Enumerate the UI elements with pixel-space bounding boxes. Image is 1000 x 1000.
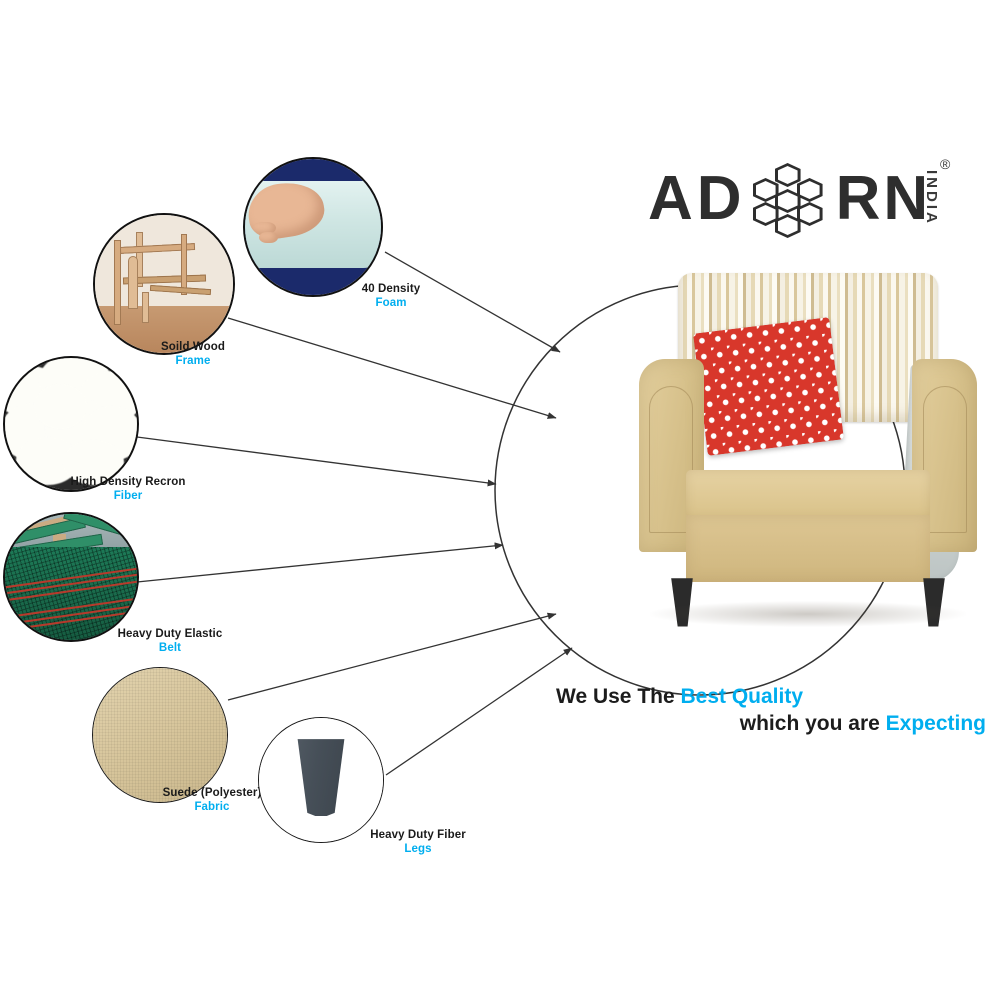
tagline-block: We Use The Best Quality which you are Ex…	[556, 684, 986, 738]
feature-belt: Heavy Duty Elastic Belt	[3, 512, 139, 642]
tagline-line-1: We Use The Best Quality	[556, 684, 986, 711]
foam-hand-press-photo	[243, 157, 383, 297]
seat-cushion	[686, 470, 931, 518]
feature-belt-title: Heavy Duty Elastic	[45, 628, 295, 642]
feature-foam: 40 Density Foam	[243, 157, 383, 297]
tagline-line-1-highlight: Best Quality	[680, 685, 803, 708]
tagline-line-2-highlight: Expecting	[886, 712, 986, 735]
feature-fiber-title: High Density Recron	[0, 476, 263, 490]
wood-frame-photo	[93, 213, 235, 355]
red-accent-pillow	[693, 317, 844, 456]
elastic-webbing-photo	[3, 512, 139, 642]
product-shadow	[650, 601, 967, 627]
feature-fiber-subtitle: Fiber	[0, 490, 263, 504]
feature-foam-caption: 40 Density Foam	[291, 283, 491, 310]
suede-fabric-swatch	[92, 667, 228, 803]
feature-fiber: High Density Recron Fiber	[3, 356, 139, 492]
feature-fabric: Suede (Polyester) Fabric	[92, 667, 228, 803]
feature-legs: Heavy Duty Fiber Legs	[258, 717, 384, 843]
infographic-canvas: Soild Wood Frame 40 Density Foam	[0, 0, 1000, 1000]
tagline-line-1-plain: We Use The	[556, 685, 680, 708]
product-photo-armchair	[628, 262, 988, 634]
connector-belt	[137, 545, 503, 582]
feature-frame: Soild Wood Frame	[93, 213, 235, 355]
logo-letter-a: A	[648, 168, 693, 230]
logo-letter-r: R	[836, 168, 881, 230]
feature-legs-caption: Heavy Duty Fiber Legs	[303, 829, 533, 856]
feature-legs-title: Heavy Duty Fiber	[303, 829, 533, 843]
connector-legs	[386, 648, 572, 775]
feature-foam-title: 40 Density	[291, 283, 491, 297]
feature-fiber-caption: High Density Recron Fiber	[0, 476, 263, 503]
sofa-base	[686, 515, 931, 582]
fiber-leg-photo	[258, 717, 384, 843]
feature-belt-caption: Heavy Duty Elastic Belt	[45, 628, 295, 655]
feature-foam-subtitle: Foam	[291, 297, 491, 311]
tagline-line-2: which you are Expecting	[556, 711, 986, 738]
honeycomb-icon	[748, 163, 830, 235]
connector-fabric	[228, 614, 556, 700]
registered-trademark-icon: ®	[940, 156, 950, 172]
logo-letter-d: D	[697, 168, 742, 230]
tagline-line-2-plain: which you are	[740, 712, 886, 735]
feature-legs-subtitle: Legs	[303, 843, 533, 857]
recron-fiber-photo	[3, 356, 139, 492]
feature-belt-subtitle: Belt	[45, 642, 295, 656]
logo-india-text: INDIA	[923, 170, 940, 226]
feature-frame-title: Soild Wood	[83, 341, 303, 355]
brand-logo: A D R N INDIA ®	[648, 158, 978, 240]
logo-letter-n: N	[883, 168, 928, 230]
